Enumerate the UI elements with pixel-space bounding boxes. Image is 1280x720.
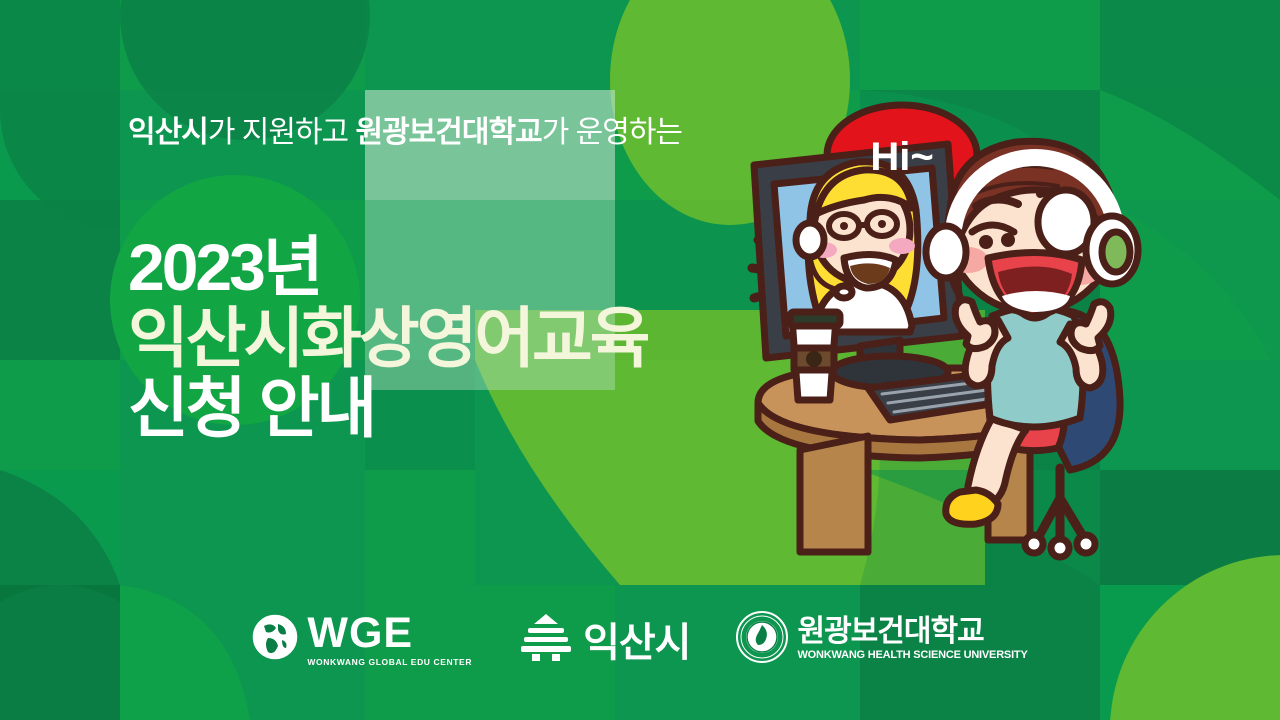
kicker-seg-support: 가 지원하고 xyxy=(208,116,356,149)
kicker-seg-university: 원광보건대학교 xyxy=(355,116,541,149)
wge-tagline: WONKWANG GLOBAL EDU CENTER xyxy=(307,658,472,667)
kicker-seg-iksan: 익산시 xyxy=(128,116,208,149)
headline-line-2: 익산시화상영어교육 xyxy=(128,303,828,374)
logo-iksan-si[interactable]: 익산시 xyxy=(518,610,690,668)
poster-canvas: 익산시가 지원하고 원광보건대학교가 운영하는 2023년 익산시화상영어교육 … xyxy=(0,0,1280,720)
kicker-seg-operate: 가 운영하는 xyxy=(542,116,682,149)
iksan-gate-icon xyxy=(518,612,574,667)
headline-line-1: 2023년 xyxy=(128,232,828,303)
iksan-wordmark: 익산시 xyxy=(583,610,690,668)
university-emblem-icon xyxy=(736,611,788,668)
logo-row: WGE WONKWANG GLOBAL EDU CENTER 익산시 xyxy=(0,610,1280,668)
globe-icon xyxy=(252,614,298,665)
headline-line-3: 신청 안내 xyxy=(128,373,828,444)
logo-wge[interactable]: WGE WONKWANG GLOBAL EDU CENTER xyxy=(252,612,472,667)
speech-bubble-label: Hi~ xyxy=(870,135,933,179)
logo-wonkwang-university[interactable]: 원광보건대학교 WONKWANG HEALTH SCIENCE UNIVERSI… xyxy=(736,611,1027,668)
text-block: 익산시가 지원하고 원광보건대학교가 운영하는 2023년 익산시화상영어교육 … xyxy=(128,118,828,444)
wku-wordmark-ko: 원광보건대학교 xyxy=(797,617,1027,647)
wku-wordmark-en: WONKWANG HEALTH SCIENCE UNIVERSITY xyxy=(797,650,1027,661)
headline-block: 2023년 익산시화상영어교육 신청 안내 xyxy=(128,232,828,444)
kicker-line: 익산시가 지원하고 원광보건대학교가 운영하는 xyxy=(128,118,828,148)
wge-wordmark: WGE xyxy=(307,612,472,655)
